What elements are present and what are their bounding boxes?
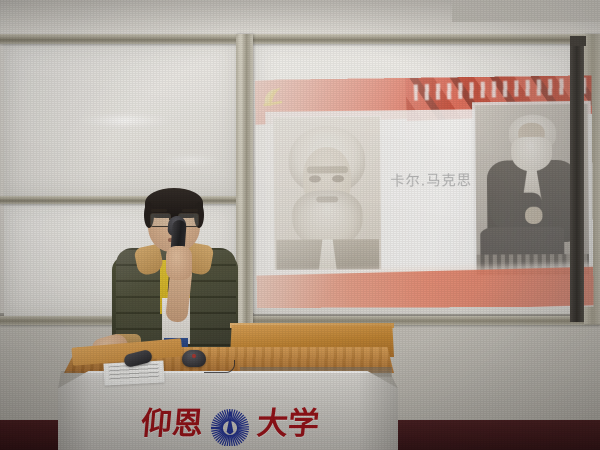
university-branding: 仰恩 大学	[102, 401, 358, 447]
presenter	[110, 188, 240, 358]
mouse-indicator-light	[192, 354, 196, 358]
slide-title: 卡尔.马克思	[384, 170, 477, 191]
hand-holding-microphone	[166, 246, 192, 280]
brand-text-left: 仰恩	[140, 409, 205, 440]
projected-slide: 卡尔.马克思	[255, 75, 594, 308]
eyebrow-right	[182, 209, 198, 212]
screen-frame-corner	[570, 36, 586, 46]
whiteboard-rail-top	[0, 34, 600, 44]
brand-text-right: 大学	[256, 409, 321, 440]
university-sunburst-logo	[208, 402, 252, 446]
light-glare-upper	[74, 117, 174, 124]
eyebrow-left	[151, 209, 167, 212]
mouse-cable	[204, 360, 235, 373]
hammer-and-sickle-icon	[259, 84, 289, 110]
screen-frame-right	[570, 36, 584, 322]
portrait-marx-bust	[273, 117, 381, 270]
lectern-bevel-left	[58, 371, 92, 450]
ceiling-notch	[452, 0, 600, 22]
lecture-room-photo: 卡尔.马克思	[0, 0, 600, 450]
lectern-bevel-right	[358, 371, 398, 450]
light-glare-lower	[160, 158, 222, 163]
wired-mouse	[182, 350, 206, 367]
